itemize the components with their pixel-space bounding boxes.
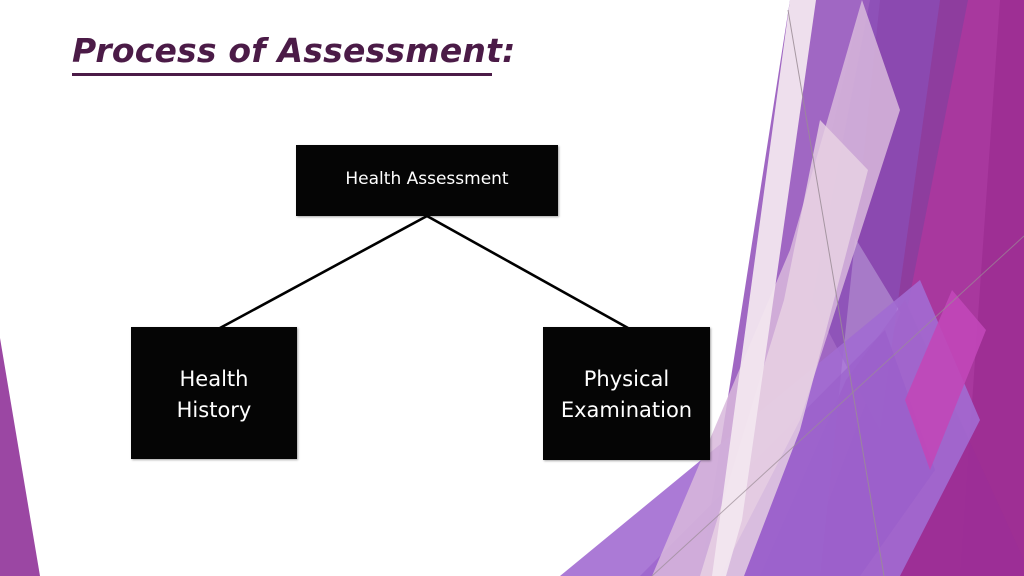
- node-health-history[interactable]: Health History: [131, 327, 297, 459]
- slide-canvas: Process of Assessment: Health Assessment…: [0, 0, 1024, 576]
- connector-lines: [0, 0, 1024, 576]
- node-health-history-label: Health History: [177, 327, 252, 426]
- node-physical-examination-label: Physical Examination: [561, 327, 692, 426]
- assessment-hierarchy-diagram: Health Assessment Health History Physica…: [0, 0, 1024, 576]
- node-health-assessment-label: Health Assessment: [345, 168, 508, 193]
- node-physical-examination[interactable]: Physical Examination: [543, 327, 710, 460]
- connector-root-to-left: [220, 216, 427, 328]
- node-health-assessment[interactable]: Health Assessment: [296, 145, 558, 216]
- connector-root-to-right: [427, 216, 628, 328]
